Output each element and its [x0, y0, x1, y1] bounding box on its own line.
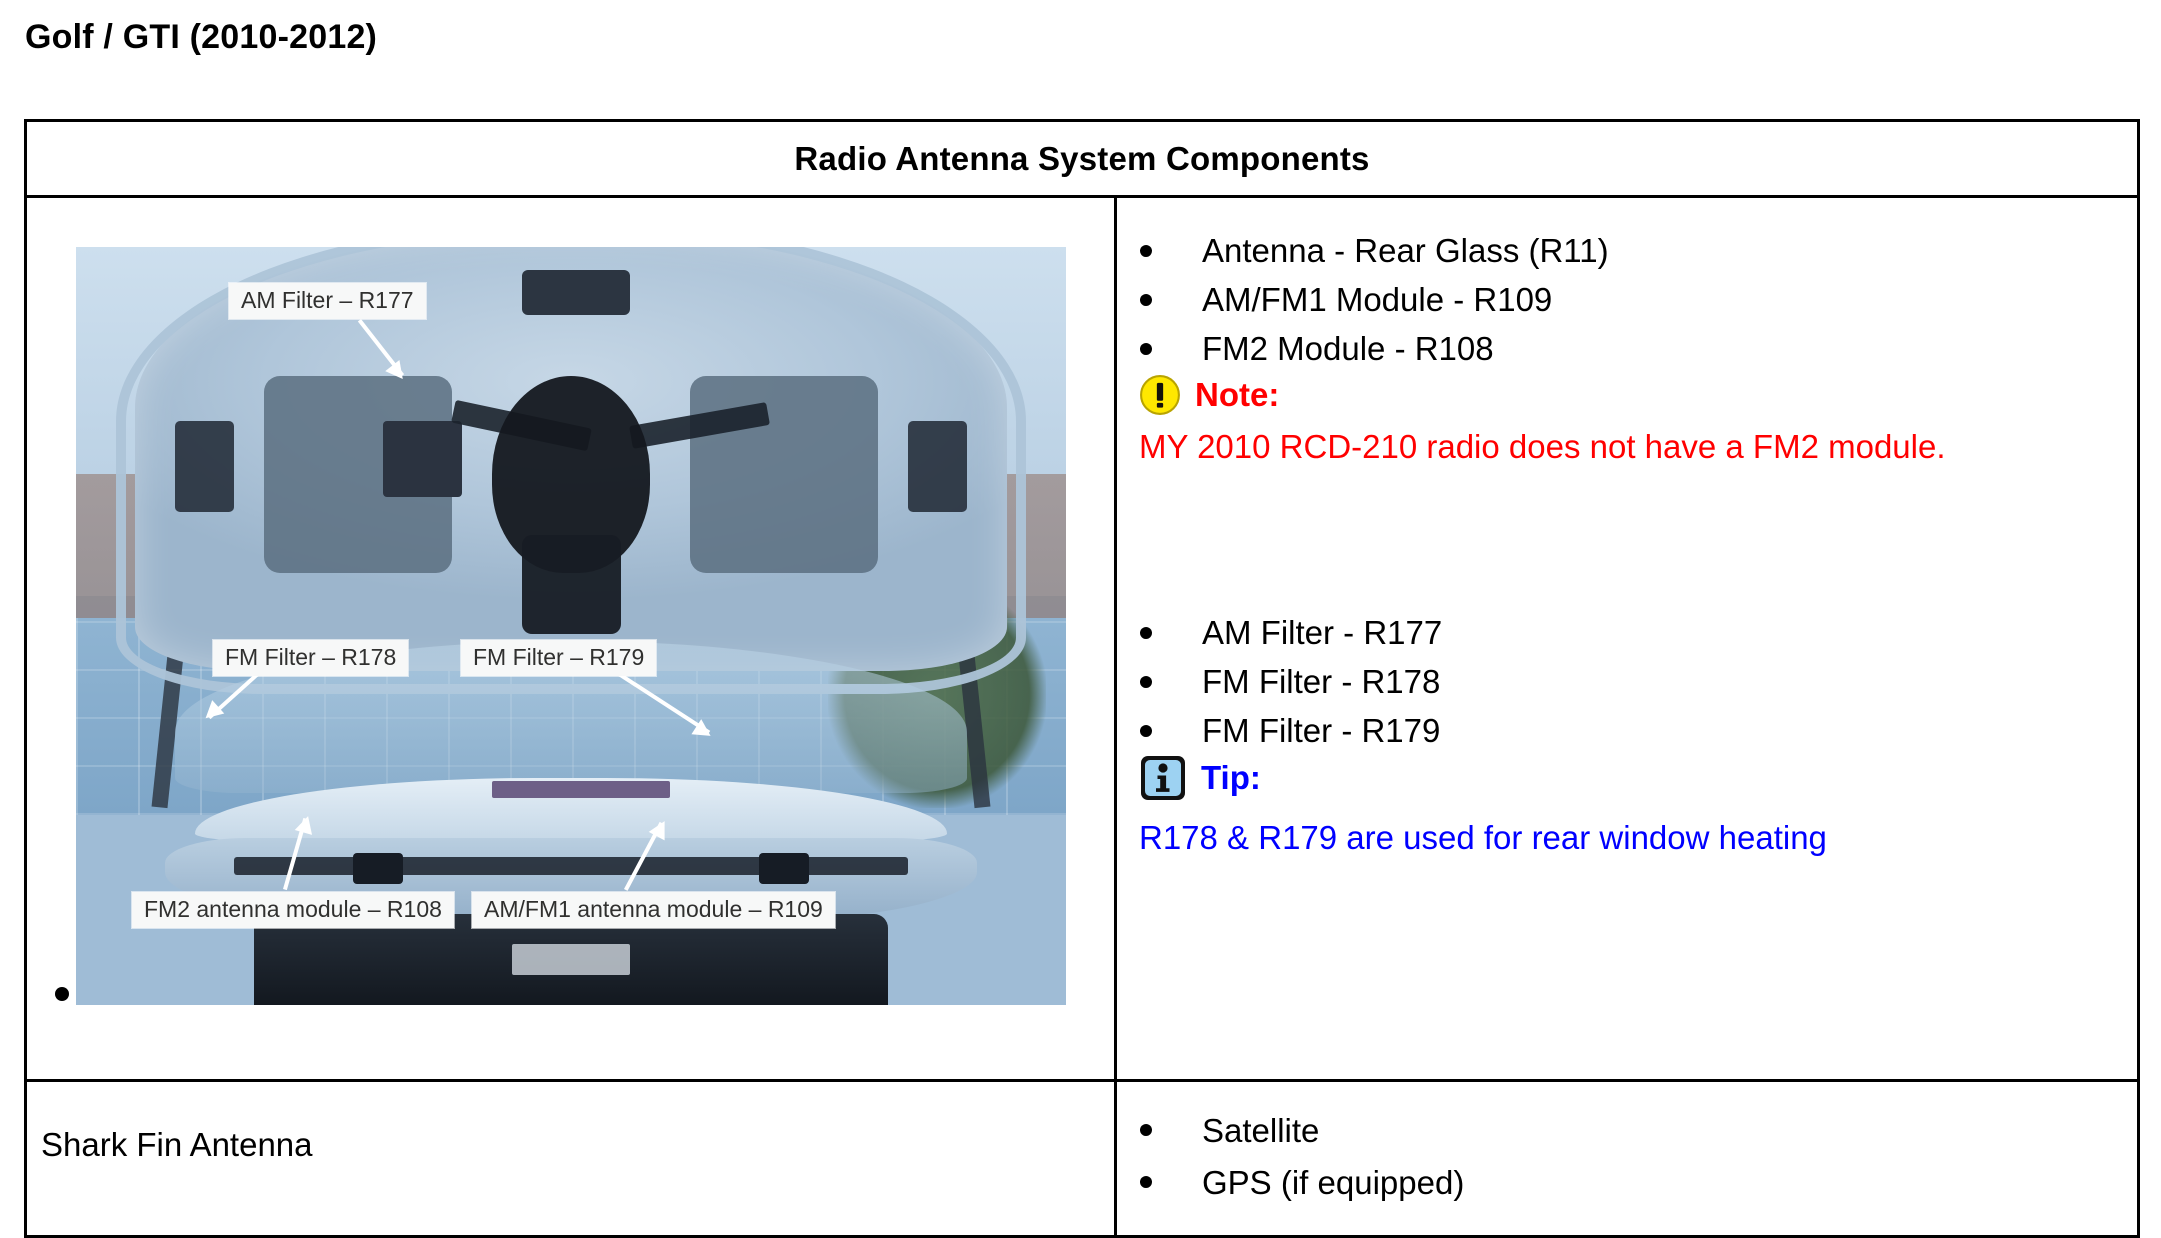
list-item-label: AM/FM1 Module - R109 [1202, 283, 1552, 316]
list-bullet-icon [1140, 245, 1152, 257]
list-bullet-icon [1140, 627, 1152, 639]
table-row: AM Filter – R177 FM Filter – R178 FM Fil… [27, 198, 2137, 1082]
amfm1-antenna-module-r109-component [759, 853, 809, 883]
callout-fm-filter-r179: FM Filter – R179 [461, 640, 656, 676]
note-heading: Note: [1139, 373, 1279, 417]
note-body: MY 2010 RCD-210 radio does not have a FM… [1139, 428, 2139, 467]
tip-body: R178 & R179 are used for rear window hea… [1139, 818, 1827, 858]
list-bullet-icon [1140, 725, 1152, 737]
tip-heading: Tip: [1139, 753, 1261, 803]
hatch-sound-pad-right [690, 376, 878, 573]
antenna-components-list-cell: Antenna - Rear Glass (R11) AM/FM1 Module… [1117, 198, 2137, 1079]
component-list-top: Antenna - Rear Glass (R11) AM/FM1 Module… [1117, 226, 2137, 373]
note-label: Note: [1195, 376, 1279, 414]
wiring-hub-lower [522, 535, 621, 634]
list-item: Antenna - Rear Glass (R11) [1117, 226, 2137, 275]
list-item: Satellite [1117, 1104, 2137, 1156]
list-item: GPS (if equipped) [1117, 1156, 2137, 1208]
list-item: FM Filter - R178 [1117, 657, 2137, 706]
list-item: AM/FM1 Module - R109 [1117, 275, 2137, 324]
list-item: FM2 Module - R108 [1117, 324, 2137, 373]
list-item: AM Filter - R177 [1117, 608, 2137, 657]
callout-fm-filter-r178: FM Filter – R178 [213, 640, 408, 676]
callout-fm2-antenna-module-r108: FM2 antenna module – R108 [132, 892, 454, 928]
shark-fin-antenna-cell: Shark Fin Antenna [27, 1082, 1117, 1235]
am-filter-r177-component [383, 421, 462, 497]
page-title: Golf / GTI (2010-2012) [25, 18, 377, 57]
fm2-antenna-module-r108-component [353, 853, 403, 883]
hatch-hinge-left [175, 421, 234, 512]
license-plate [512, 944, 631, 974]
list-item-label: AM Filter - R177 [1202, 616, 1442, 649]
list-bullet-icon [1140, 1176, 1152, 1188]
shark-fin-feature-list: Satellite GPS (if equipped) [1117, 1104, 2137, 1208]
table-row: Shark Fin Antenna Satellite GPS (if equi… [27, 1082, 2137, 1235]
list-item-label: GPS (if equipped) [1202, 1166, 1464, 1199]
table-header-title: Radio Antenna System Components [27, 122, 2137, 195]
radio-antenna-components-table: Radio Antenna System Components [24, 119, 2140, 1238]
callout-am-filter-r177: AM Filter – R177 [229, 283, 426, 319]
list-item: FM Filter - R179 [1117, 706, 2137, 755]
shark-fin-features-cell: Satellite GPS (if equipped) [1117, 1082, 2137, 1235]
tip-label: Tip: [1201, 759, 1261, 797]
vw-golf-rear-hatch-antenna-photo: AM Filter – R177 FM Filter – R178 FM Fil… [76, 247, 1066, 1005]
list-item-label: FM Filter - R178 [1202, 665, 1440, 698]
list-bullet-icon [1140, 676, 1152, 688]
hatch-latch [522, 270, 631, 315]
list-item-label: FM2 Module - R108 [1202, 332, 1494, 365]
third-brake-light [492, 781, 670, 798]
shark-fin-antenna-label: Shark Fin Antenna [41, 1126, 313, 1164]
list-item-label: FM Filter - R179 [1202, 714, 1440, 747]
info-i-icon [1139, 754, 1187, 802]
list-item-label: Satellite [1202, 1114, 1319, 1147]
component-list-filters: AM Filter - R177 FM Filter - R178 FM Fil… [1117, 608, 2137, 755]
list-item-label: Antenna - Rear Glass (R11) [1202, 234, 1609, 267]
list-bullet-icon [55, 987, 69, 1001]
hatch-hinge-right [908, 421, 967, 512]
callout-amfm1-antenna-module-r109: AM/FM1 antenna module – R109 [472, 892, 835, 928]
antenna-photo-cell: AM Filter – R177 FM Filter – R178 FM Fil… [27, 198, 1117, 1079]
list-bullet-icon [1140, 343, 1152, 355]
table-header-row: Radio Antenna System Components [27, 122, 2137, 198]
warning-exclamation-icon [1139, 374, 1181, 416]
list-bullet-icon [1140, 294, 1152, 306]
list-bullet-icon [1140, 1124, 1152, 1136]
